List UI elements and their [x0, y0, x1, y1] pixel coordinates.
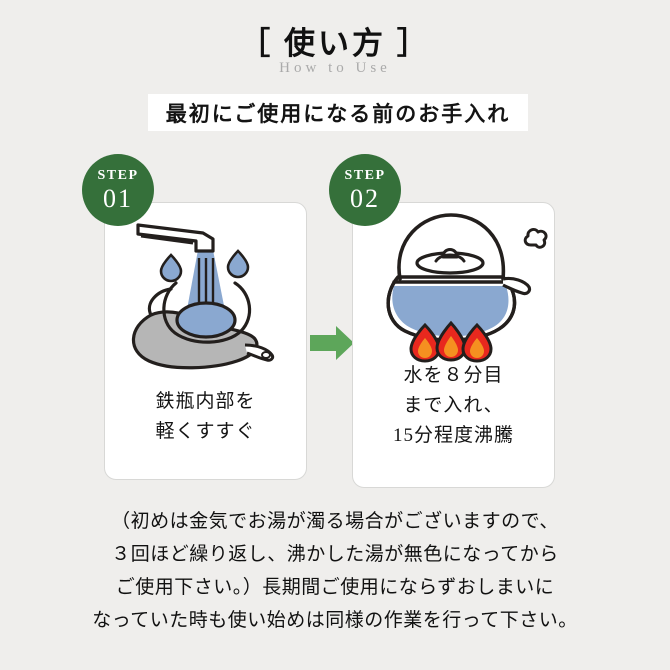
footer-note-line: （初めは金気でお湯が濁る場合がございますので、	[0, 505, 670, 538]
step-badge-2: STEP 02	[329, 154, 401, 226]
footer-note-line: なっていた時も使い始めは同様の作業を行って下さい。	[0, 604, 670, 637]
step-2-caption-line: 15分程度沸騰	[353, 421, 554, 451]
instruction-graphic: ［ 使い方 ］ How to Use 最初にご使用になる前のお手入れ	[0, 0, 670, 670]
step-card-2: 水を８分目 まで入れ、 15分程度沸騰	[352, 202, 555, 488]
section-banner: 最初にご使用になる前のお手入れ	[148, 94, 528, 131]
step-2-caption-line: まで入れ、	[353, 391, 554, 421]
step-2-caption-line: 水を８分目	[353, 361, 554, 391]
footer-note-line: ３回ほど繰り返し、沸かした湯が無色になってから	[0, 538, 670, 571]
section-banner-label: 最初にご使用になる前のお手入れ	[166, 98, 511, 128]
step-1-illustration	[105, 203, 306, 388]
step-badge-1-word: STEP	[97, 169, 138, 183]
step-card-1: 鉄瓶内部を 軽くすすぐ	[104, 202, 307, 480]
step-2-caption: 水を８分目 まで入れ、 15分程度沸騰	[353, 361, 554, 451]
step-flow-arrow	[310, 325, 354, 361]
step-badge-2-word: STEP	[344, 169, 385, 183]
step-1-caption: 鉄瓶内部を 軽くすすぐ	[105, 387, 306, 447]
step-1-caption-line: 鉄瓶内部を	[105, 387, 306, 417]
footer-note-line: ご使用下さい。）長期間ご使用にならずおしまいに	[0, 571, 670, 604]
step-2-illustration	[353, 203, 554, 368]
step-badge-2-number: 02	[350, 186, 380, 212]
flame-group	[411, 323, 491, 361]
footer-note: （初めは金気でお湯が濁る場合がございますので、 ３回ほど繰り返し、沸かした湯が無…	[0, 505, 670, 637]
step-1-caption-line: 軽くすすぐ	[105, 417, 306, 447]
page-subtitle: How to Use	[0, 60, 670, 77]
step-badge-1-number: 01	[103, 186, 133, 212]
page-title: ［ 使い方 ］	[0, 18, 670, 63]
step-badge-1: STEP 01	[82, 154, 154, 226]
